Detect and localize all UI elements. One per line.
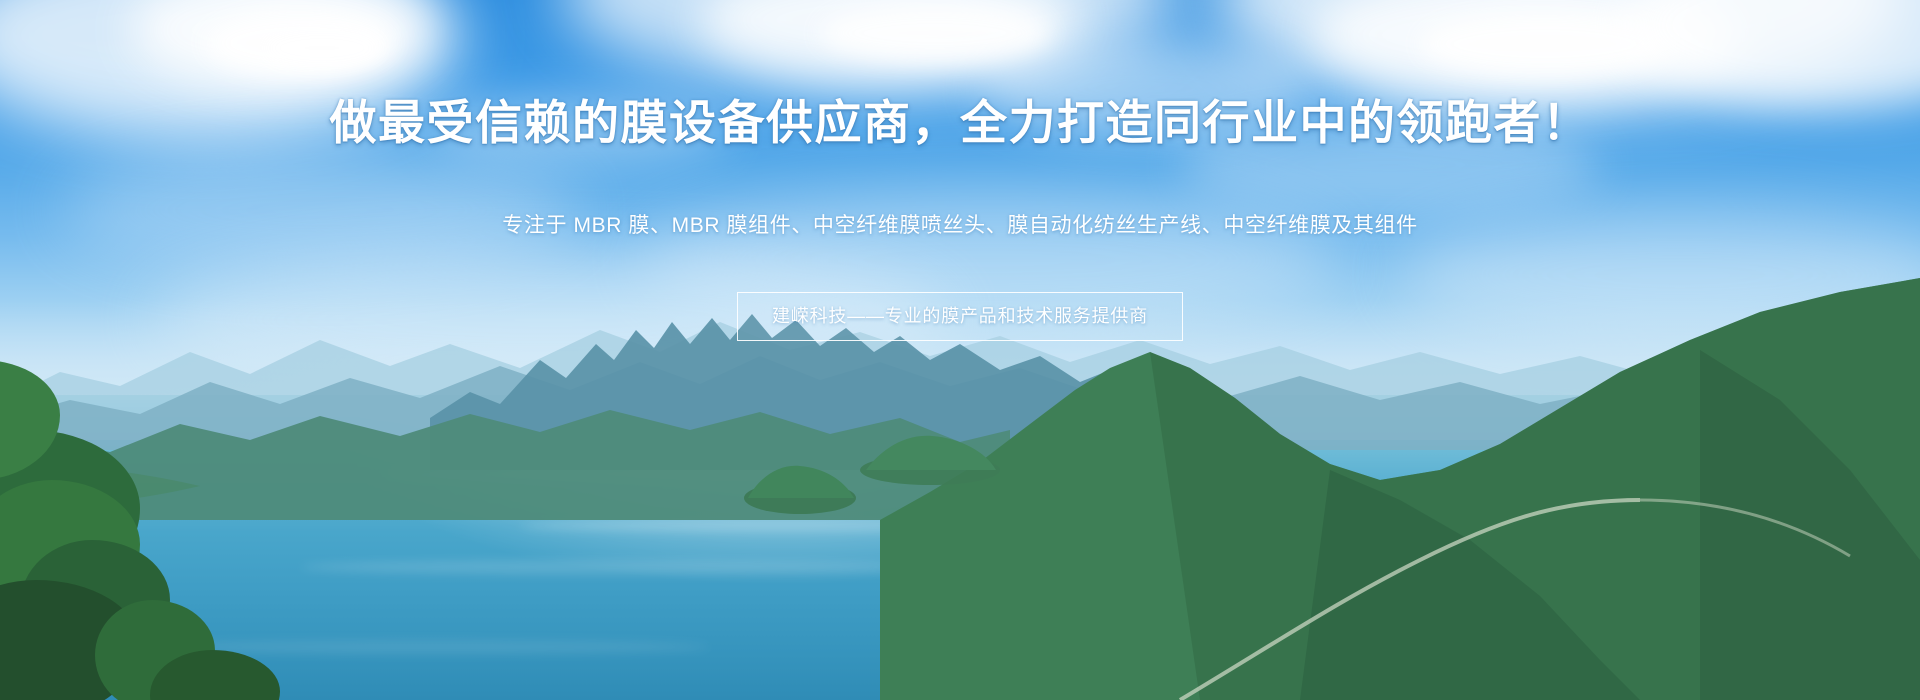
tagline-box[interactable]: 建嵘科技——专业的膜产品和技术服务提供商 <box>737 292 1183 341</box>
hero-banner: 做最受信赖的膜设备供应商，全力打造同行业中的领跑者！ 专注于 MBR 膜、MBR… <box>0 0 1920 700</box>
mountain-range <box>0 0 1920 700</box>
